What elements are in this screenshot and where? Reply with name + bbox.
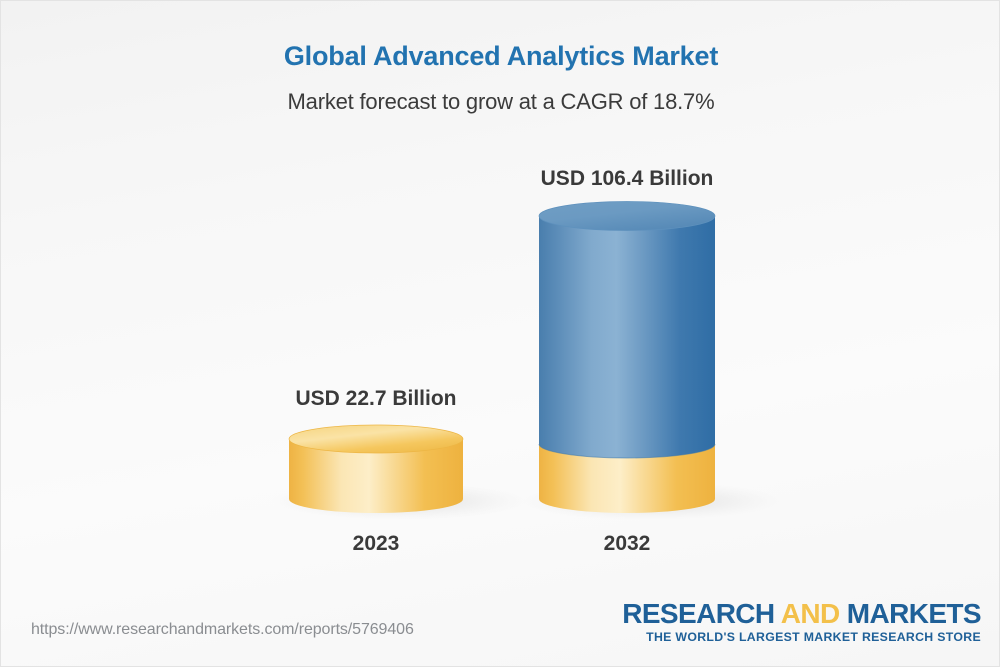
report-url[interactable]: https://www.researchandmarkets.com/repor… (31, 621, 414, 639)
bar-cylinder-2032 (539, 202, 715, 514)
bar-cylinder-2023 (289, 425, 463, 513)
value-label-2023: USD 22.7 Billion (236, 387, 516, 411)
bar-2032-top-cap (539, 202, 715, 231)
category-label-2023: 2023 (276, 532, 476, 556)
infographic-canvas: Global Advanced Analytics Market Market … (0, 0, 1000, 667)
logo-wordmark: RESEARCH AND MARKETS (622, 599, 981, 628)
value-label-2032: USD 106.4 Billion (487, 167, 767, 191)
bar-2032-upper-segment (539, 216, 715, 458)
bar-2023-top-cap (289, 425, 463, 453)
logo-word-markets: MARKETS (847, 598, 981, 629)
cylinder-bar-chart (1, 1, 1000, 667)
research-and-markets-logo[interactable]: RESEARCH AND MARKETS THE WORLD'S LARGEST… (622, 599, 981, 644)
logo-word-and: AND (781, 598, 847, 629)
category-label-2032: 2032 (527, 532, 727, 556)
logo-word-research: RESEARCH (622, 598, 780, 629)
logo-tagline: THE WORLD'S LARGEST MARKET RESEARCH STOR… (622, 630, 981, 644)
